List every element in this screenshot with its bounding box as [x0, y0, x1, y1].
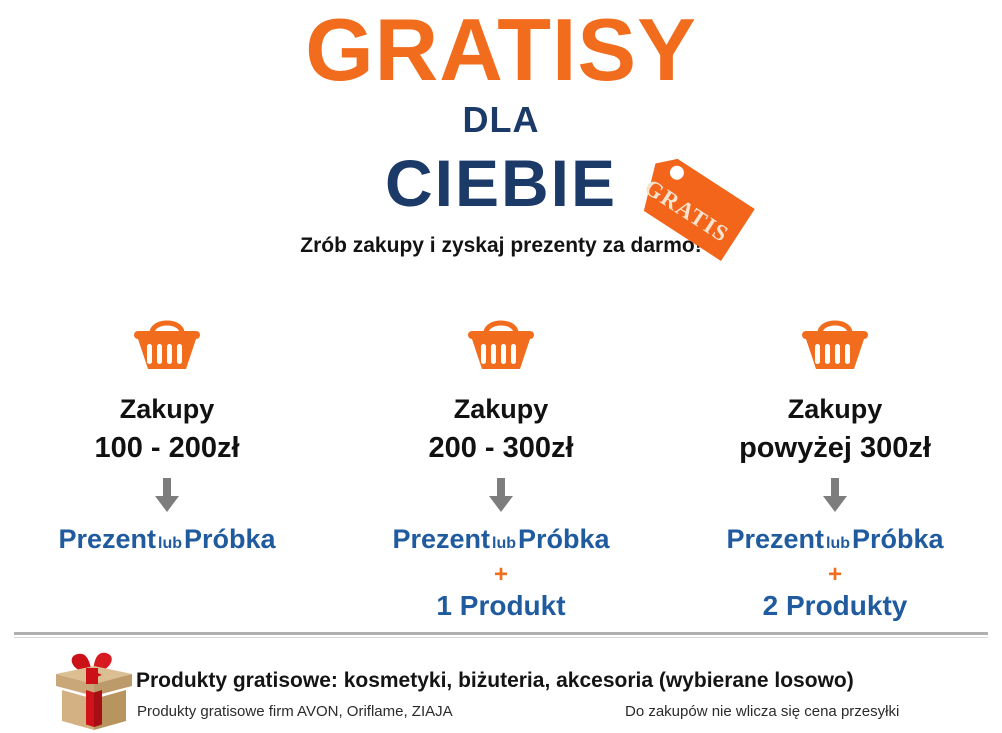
arrow-down-icon — [488, 478, 514, 514]
tier-title: Zakupy — [454, 393, 549, 426]
tier-range: 100 - 200zł — [94, 430, 239, 466]
tier-range: powyżej 300zł — [739, 430, 931, 466]
hero-subtitle-big: CIEBIE — [0, 145, 1002, 221]
tier-title: Zakupy — [120, 393, 215, 426]
price-tag-icon: GRATIS — [616, 158, 756, 266]
tiers-row: Zakupy 100 - 200zł PrezentlubPróbka — [0, 305, 1002, 630]
arrow-down-icon — [154, 478, 180, 514]
tier-reward-extra: 1 Produkt — [436, 589, 565, 623]
tier-column: Zakupy 200 - 300zł PrezentlubPróbka + 1 … — [334, 305, 668, 630]
tier-reward: PrezentlubPróbka — [58, 522, 275, 561]
tier-reward: PrezentlubPróbka — [392, 522, 609, 561]
hero-subtitle-small: DLA — [0, 100, 1002, 140]
divider-rule-thick — [14, 632, 988, 635]
reward-conjunction: lub — [490, 535, 518, 552]
reward-suffix: Próbka — [518, 524, 610, 554]
footer-section: Produkty gratisowe: kosmetyki, biżuteria… — [0, 646, 1002, 733]
tier-plus-sign: + — [828, 562, 842, 588]
tier-reward-extra: 2 Produkty — [763, 589, 908, 623]
tier-title: Zakupy — [788, 393, 883, 426]
tier-column: Zakupy powyżej 300zł PrezentlubPróbka + … — [668, 305, 1002, 630]
hero-tagline: Zrób zakupy i zyskaj prezenty za darmo! — [0, 233, 1002, 259]
shopping-basket-icon — [464, 315, 538, 375]
shopping-basket-icon — [130, 315, 204, 375]
divider — [14, 632, 988, 640]
tier-range: 200 - 300zł — [428, 430, 573, 466]
divider-rule-thin — [14, 637, 988, 638]
reward-conjunction: lub — [824, 535, 852, 552]
tier-reward: PrezentlubPróbka — [726, 522, 943, 561]
tier-column: Zakupy 100 - 200zł PrezentlubPróbka — [0, 305, 334, 630]
hero-title: GRATISY — [0, 4, 1002, 96]
reward-suffix: Próbka — [184, 524, 276, 554]
promo-banner: GRATISY DLA CIEBIE Zrób zakupy i zyskaj … — [0, 0, 1002, 733]
footer-headline: Produkty gratisowe: kosmetyki, biżuteria… — [136, 668, 854, 694]
footer-note-right: Do zakupów nie wlicza się cena przesyłki — [625, 702, 899, 721]
footer-note-left: Produkty gratisowe firm AVON, Oriflame, … — [137, 702, 453, 721]
reward-suffix: Próbka — [852, 524, 944, 554]
reward-prefix: Prezent — [392, 524, 490, 554]
tier-plus-sign: + — [494, 562, 508, 588]
reward-conjunction: lub — [156, 535, 184, 552]
arrow-down-icon — [822, 478, 848, 514]
reward-prefix: Prezent — [726, 524, 824, 554]
shopping-basket-icon — [798, 315, 872, 375]
reward-prefix: Prezent — [58, 524, 156, 554]
gift-box-icon — [48, 650, 140, 732]
hero-section: GRATISY DLA CIEBIE Zrób zakupy i zyskaj … — [0, 0, 1002, 280]
